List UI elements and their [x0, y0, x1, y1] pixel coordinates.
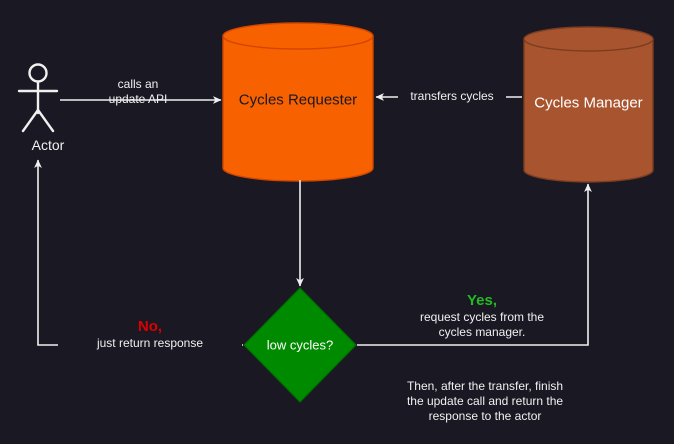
cycles-requester-shape[interactable]: [223, 23, 373, 181]
cycles-manager-shape[interactable]: [524, 27, 653, 182]
diagram-shapes: [0, 0, 674, 444]
edge-decision-no-to-actor: [38, 160, 243, 345]
diagram-canvas: Cycles Requester Cycles Manager low cycl…: [0, 0, 674, 444]
low-cycles-decision-shape[interactable]: [244, 288, 356, 402]
actor-figure-icon: [19, 65, 57, 132]
edge-decision-yes-to-manager: [357, 184, 588, 345]
